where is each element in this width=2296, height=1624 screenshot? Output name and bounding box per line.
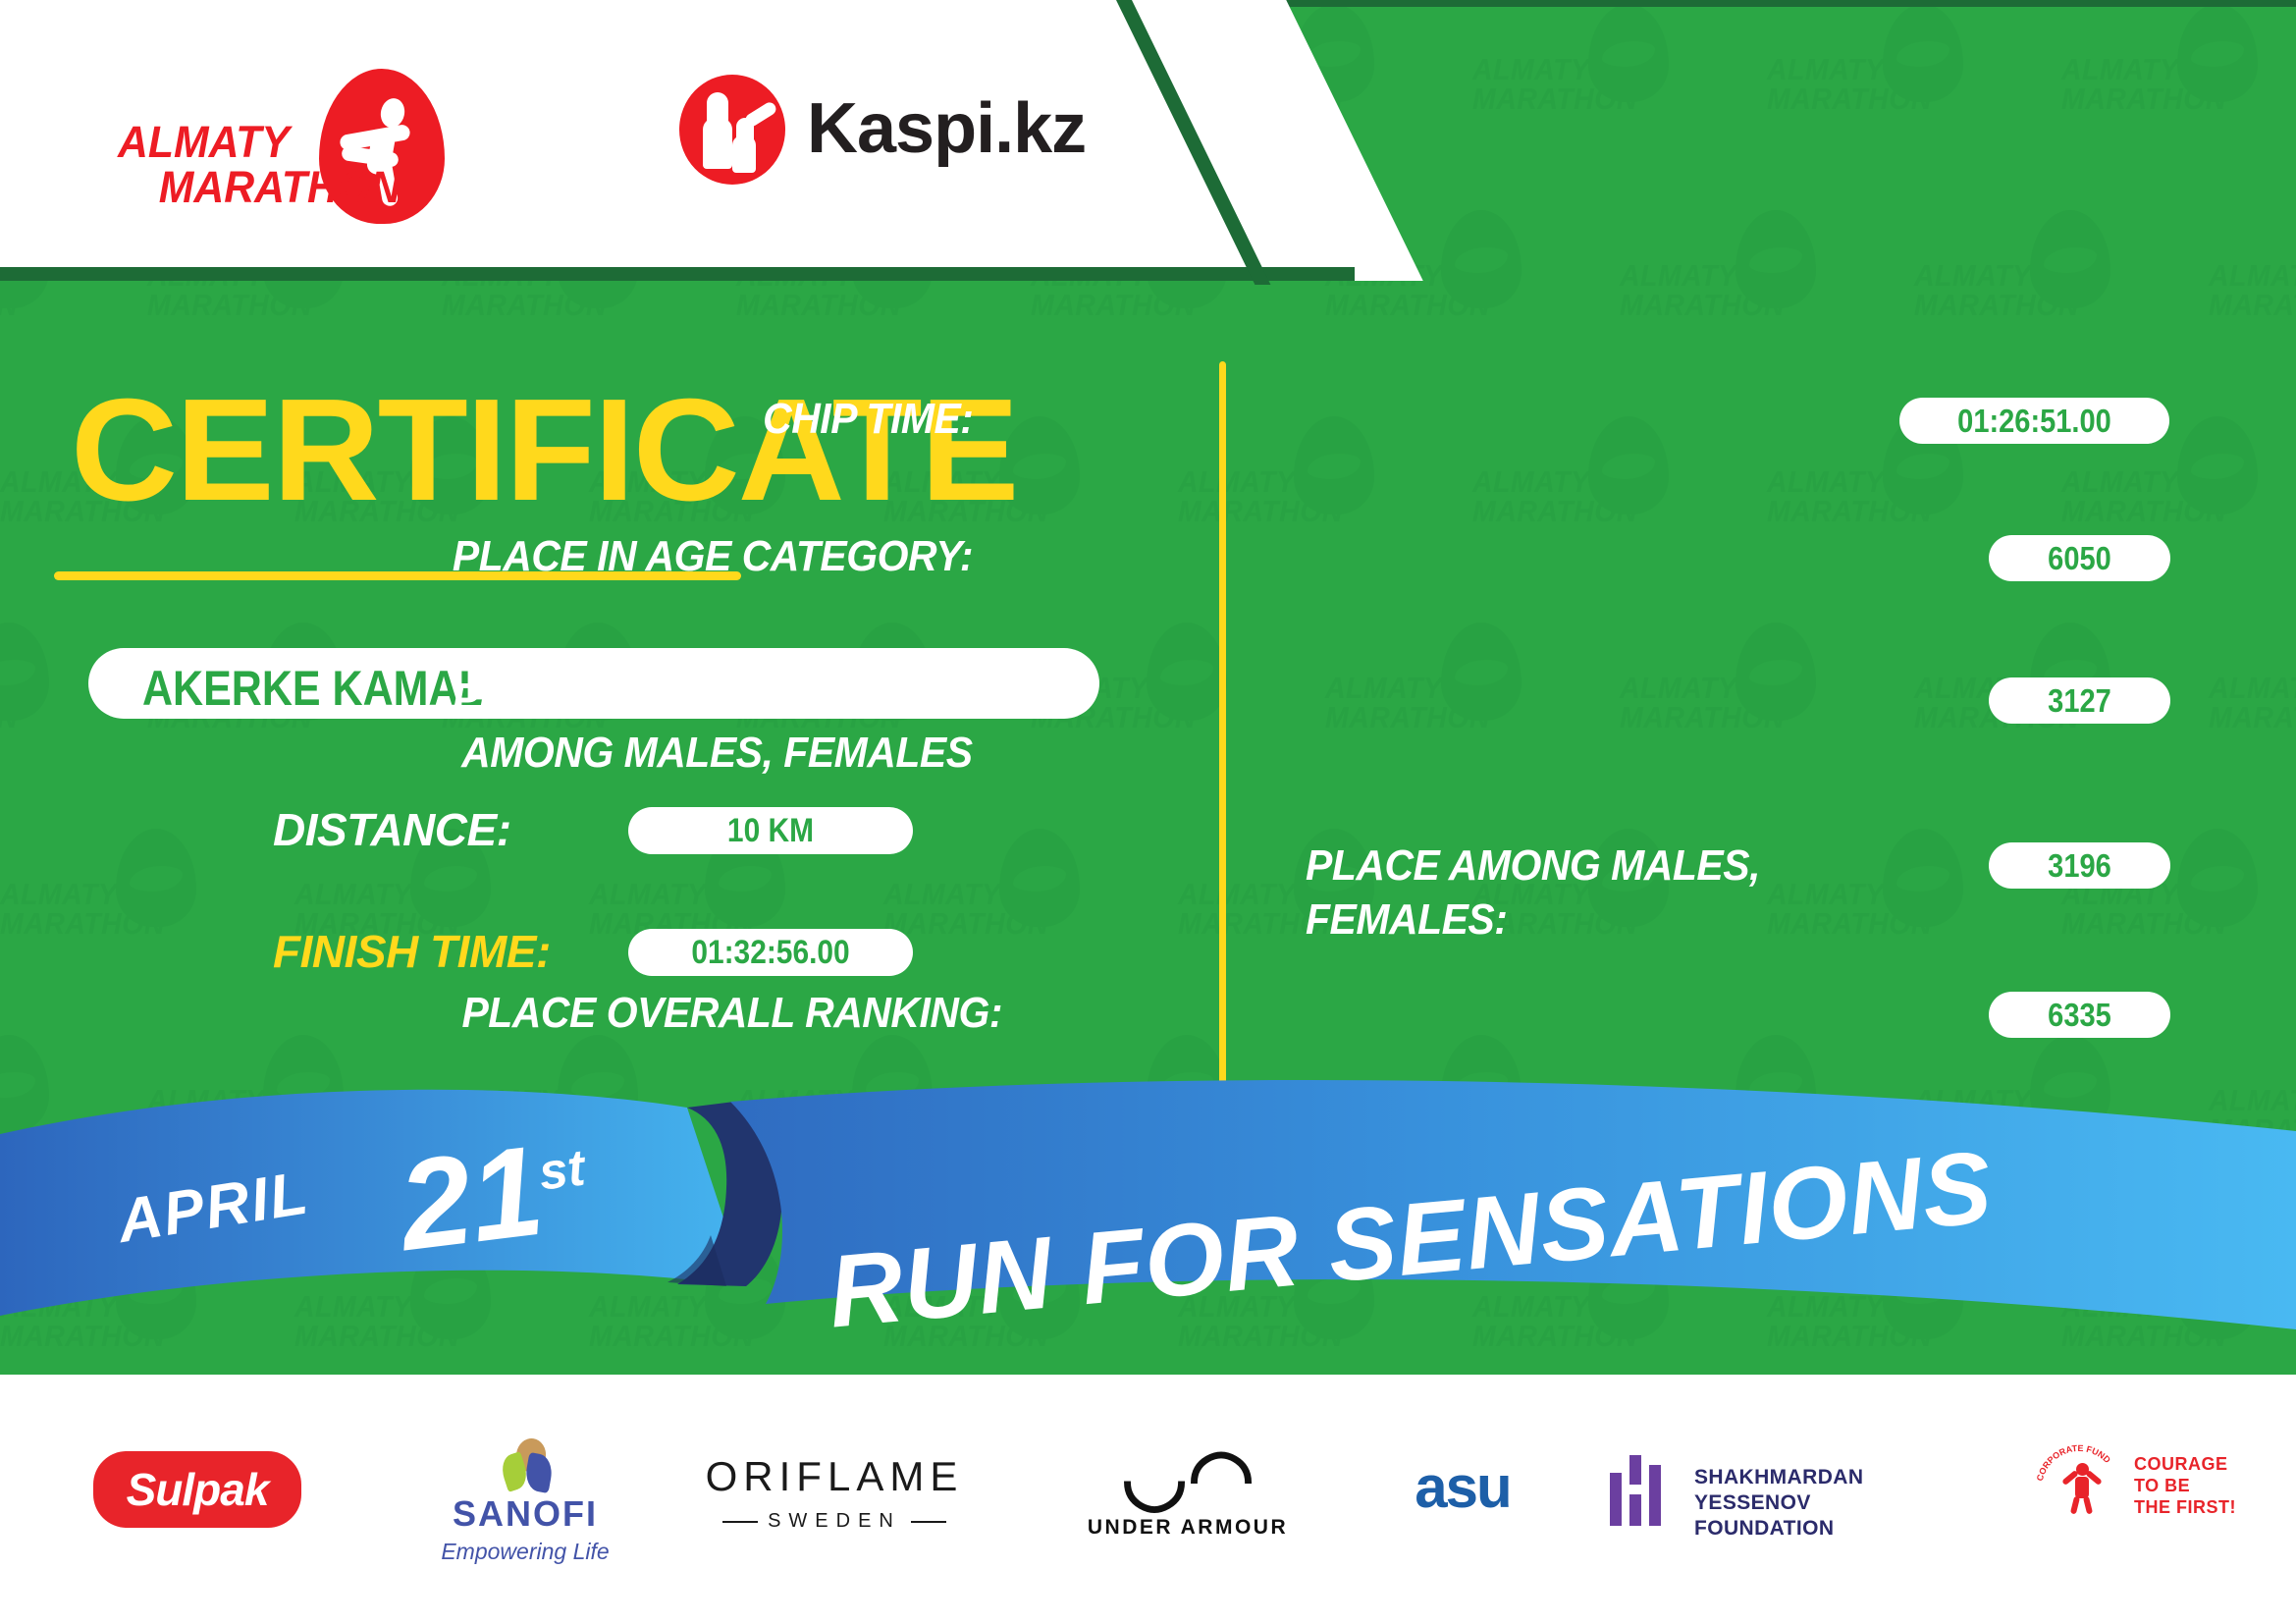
place-age-category-gender-value: 3127 <box>2000 677 2160 724</box>
kaspi-wordmark: Kaspi.kz <box>807 88 1086 169</box>
sanofi-wordmark: SANOFI <box>412 1493 638 1535</box>
distance-label: DISTANCE: <box>273 803 511 856</box>
corporate-fund-line1: COURAGE <box>2134 1453 2236 1475</box>
finish-time-label: FINISH TIME: <box>273 925 551 978</box>
sponsor-logo-under-armour: ◡◠ UNDER ARMOUR <box>1080 1441 1296 1540</box>
sponsor-logo-sanofi: SANOFI Empowering Life <box>412 1438 638 1556</box>
ribbon-day: 21st <box>391 1105 594 1270</box>
marathon-logo-line2: MARATHON <box>118 165 360 210</box>
sanofi-tagline: Empowering Life <box>412 1539 638 1565</box>
header-green-underline <box>0 267 1355 281</box>
sponsor-logo-oriflame: ORIFLAME SWEDEN <box>687 1453 982 1533</box>
place-overall-value-pill: 6335 <box>1989 992 2170 1038</box>
sulpak-wordmark: Sulpak <box>93 1451 301 1528</box>
place-overall-value: 6335 <box>2000 992 2160 1038</box>
distance-row: DISTANCE: <box>273 803 511 856</box>
place-overall-label: PLACE OVERALL RANKING: <box>461 987 1002 1040</box>
corporate-fund-person-icon <box>2063 1463 2099 1512</box>
place-among-gender-value: 3196 <box>2000 842 2160 889</box>
yessenov-line2: FOUNDATION <box>1694 1516 1973 1542</box>
place-among-gender-value-pill: 3196 <box>1989 842 2170 889</box>
almaty-marathon-wordmark: ALMATY MARATHON <box>118 120 360 210</box>
oriflame-sub: SWEDEN <box>687 1510 982 1533</box>
place-age-category-label: PLACE IN AGE CATEGORY: <box>453 530 973 583</box>
chip-time-value: 01:26:51.00 <box>1916 398 2154 444</box>
place-age-category-gender-label-l1: PLACE IN AGE CATEGORY: <box>453 673 973 726</box>
finish-time-value-pill: 01:32:56.00 <box>628 929 913 976</box>
under-armour-wordmark: UNDER ARMOUR <box>1080 1516 1296 1540</box>
place-age-category-gender-value-pill: 3127 <box>1989 677 2170 724</box>
ribbon-day-suffix: st <box>536 1139 588 1201</box>
ribbon-day-number: 21 <box>392 1118 550 1278</box>
place-age-category-value-pill: 6050 <box>1989 535 2170 581</box>
corporate-fund-wordmark: COURAGE TO BE THE FIRST! <box>2134 1453 2236 1518</box>
corporate-fund-line2: TO BE <box>2134 1475 2236 1496</box>
sponsor-logo-corporate-fund: CORPORATE FUND COURAGE TO BE THE FIRST! <box>2032 1435 2268 1543</box>
sponsor-logo-sulpak: Sulpak <box>93 1451 301 1528</box>
place-age-category-gender-label-l2: AMONG MALES, FEMALES <box>462 727 973 780</box>
oriflame-wordmark: ORIFLAME <box>687 1453 982 1500</box>
oriflame-sub-text: SWEDEN <box>768 1510 901 1533</box>
kaspi-people-icon <box>679 75 785 185</box>
sponsor-logo-asu: asu <box>1364 1453 1561 1521</box>
corporate-fund-line3: THE FIRST! <box>2134 1496 2236 1518</box>
distance-value-pill: 10 KM <box>628 807 913 854</box>
yessenov-wordmark: SHAKHMARDAN YESSENOV FOUNDATION <box>1694 1465 1973 1542</box>
yessenov-icon <box>1610 1455 1679 1526</box>
distance-value: 10 KM <box>645 807 895 854</box>
certificate-page: ALMATYMARATHONALMATYMARATHONALMATYMARATH… <box>0 0 2296 1624</box>
asu-wordmark: asu <box>1364 1453 1561 1521</box>
sanofi-icon <box>412 1438 638 1489</box>
kaspi-logo: Kaspi.kz <box>679 75 1092 183</box>
column-divider <box>1219 361 1226 1100</box>
chip-time-value-pill: 01:26:51.00 <box>1899 398 2169 444</box>
finish-time-value: 01:32:56.00 <box>645 929 895 976</box>
place-among-gender-label-l1: PLACE AMONG MALES, <box>1306 839 1760 893</box>
almaty-marathon-logo: ALMATY MARATHON <box>118 69 452 196</box>
place-age-category-value: 6050 <box>2000 535 2160 581</box>
marathon-logo-line1: ALMATY <box>118 120 360 165</box>
athlete-name-value: AKERKE KAMAL <box>142 660 485 717</box>
finish-time-row: FINISH TIME: <box>273 925 551 978</box>
chip-time-label: CHIP TIME: <box>763 393 973 446</box>
under-armour-icon: ◡◠ <box>1080 1441 1296 1510</box>
place-among-gender-label-l2: FEMALES: <box>1306 893 1507 947</box>
yessenov-line1: SHAKHMARDAN YESSENOV <box>1694 1465 1973 1516</box>
